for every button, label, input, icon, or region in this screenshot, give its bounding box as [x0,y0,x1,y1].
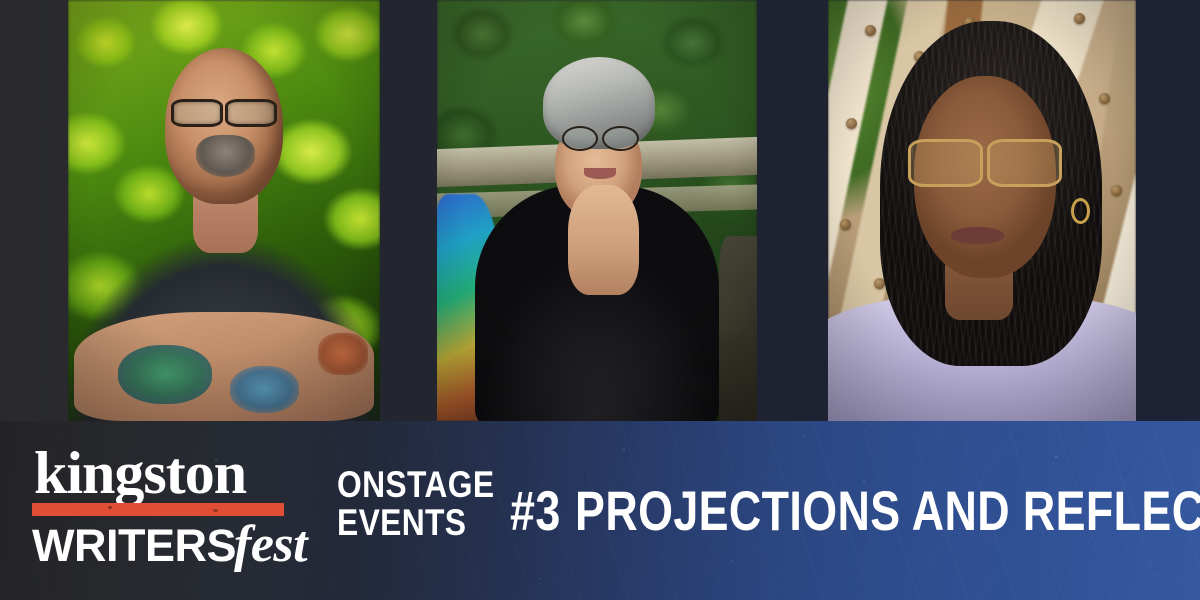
event-title-text: PROJECTIONS AND REFLECTIONS [575,479,1200,542]
portrait-strip [0,0,1200,421]
logo-wordmark-kingston: kingston [30,448,288,500]
tattoo-shape [118,345,212,404]
author-photo-1 [68,0,380,421]
smile-shape [951,227,1003,244]
section-label: ONSTAGE EVENTS [337,466,494,543]
logo-wordmark-writersfest: WRITERSfest [30,515,288,574]
author-photo-3 [828,0,1136,421]
event-title: #3PROJECTIONS AND REFLECTIONS [510,483,1200,539]
goatee-shape [196,135,255,177]
eyeglasses-icon [171,99,277,121]
tattoo-shape [230,366,299,412]
event-banner: kingston WRITERSfest ONSTAGE EVENTS #3PR… [0,0,1200,600]
clasped-hands-shape [568,185,638,294]
eyeglasses-icon [562,126,639,147]
section-label-line2: EVENTS [337,504,494,542]
chair-arm-shape [719,236,757,421]
author-photo-2 [437,0,757,421]
hoop-earring-icon [1071,198,1090,224]
section-label-line1: ONSTAGE [337,466,494,504]
portrait-panel-2 [437,0,757,421]
portrait-panel-3 [828,0,1136,421]
kingston-writersfest-logo[interactable]: kingston WRITERSfest [30,448,288,574]
logo-word-fest: fest [234,516,307,573]
logo-word-writers: WRITERS [32,520,236,571]
portrait-panel-1 [68,0,380,421]
tattoo-shape [318,333,368,375]
event-number: #3 [510,479,561,542]
eyeglasses-icon [908,139,1062,181]
logo-red-rule [32,503,284,516]
